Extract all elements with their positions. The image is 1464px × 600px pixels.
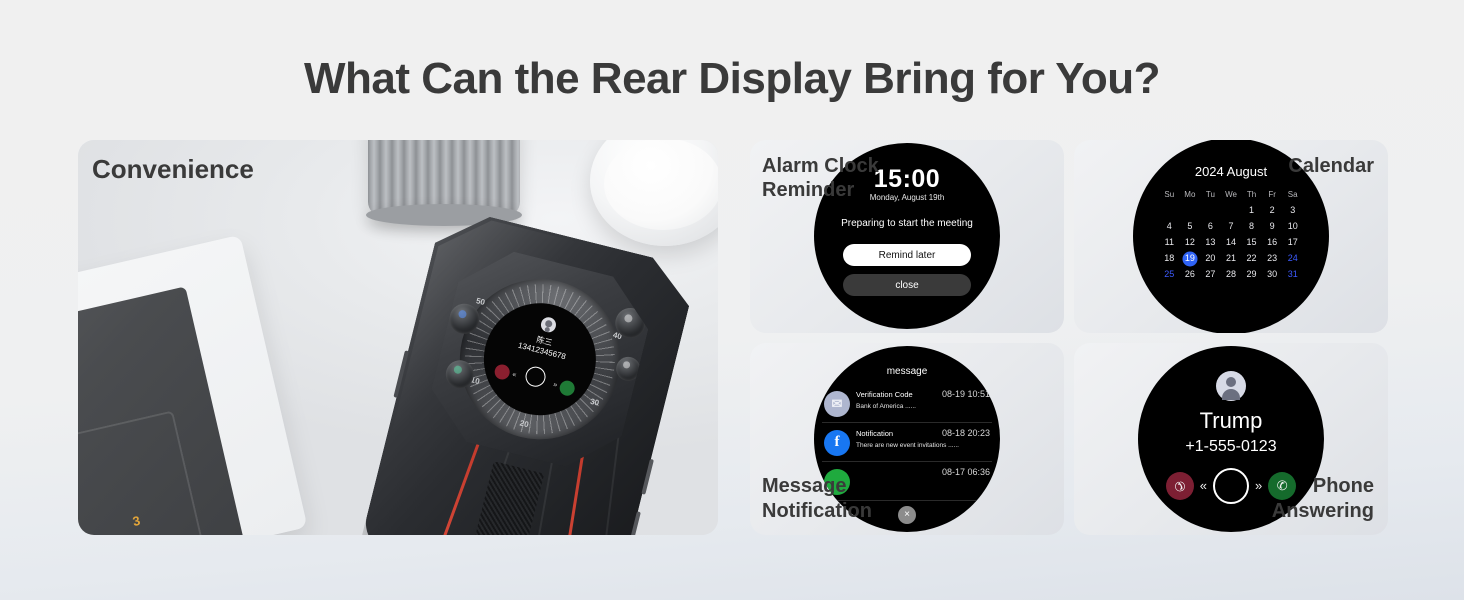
calendar-day-of-week: Su bbox=[1159, 190, 1180, 201]
decline-call-button[interactable]: ✆ bbox=[1166, 472, 1194, 500]
message-row[interactable]: fNotification08-18 20:23There are new ev… bbox=[822, 423, 992, 462]
calendar-day-of-week: Mo bbox=[1180, 190, 1201, 201]
caller-name: Trump bbox=[1138, 408, 1324, 434]
calendar-blank-cell bbox=[1180, 204, 1201, 217]
message-preview: Bank of America ...... bbox=[856, 403, 990, 410]
calendar-day-cell[interactable]: 5 bbox=[1180, 220, 1201, 233]
calendar-day-cell[interactable]: 7 bbox=[1221, 220, 1242, 233]
calendar-day-cell[interactable]: 24 bbox=[1282, 252, 1303, 265]
calendar-day-cell[interactable]: 28 bbox=[1221, 268, 1242, 281]
message-timestamp: 08-17 06:36 bbox=[942, 467, 990, 477]
tile-phone-answering: Phone Answering Trump +1-555-0123 ✆ « » … bbox=[1074, 343, 1388, 536]
message-timestamp: 08-19 10:51 bbox=[942, 389, 990, 399]
calendar-day-cell[interactable]: 16 bbox=[1262, 236, 1283, 249]
convenience-label: Convenience bbox=[92, 154, 254, 186]
calendar-day-cell[interactable]: 18 bbox=[1159, 252, 1180, 265]
calendar-blank-cell bbox=[1159, 204, 1180, 217]
product-box-inner: RUGGED M3 3 bbox=[78, 286, 248, 535]
tile-alarm-clock-reminder: Alarm Clock Reminder 15:00 Monday, Augus… bbox=[750, 140, 1064, 333]
calendar-day-cell[interactable]: 2 bbox=[1262, 204, 1283, 217]
message-header: 08-17 06:36 bbox=[856, 467, 990, 477]
calendar-day-cell[interactable]: 29 bbox=[1241, 268, 1262, 281]
product-mark: 3 bbox=[131, 513, 141, 529]
tile-message-notification: Message Notification message ✉Verificati… bbox=[750, 343, 1064, 536]
rear-display-bezel: 50 10 20 30 40 陈三 13412345678 « » bbox=[443, 262, 637, 456]
content-area: RUGGED M3 3 50 10 20 bbox=[78, 140, 1388, 535]
mail-icon: ✉ bbox=[824, 391, 850, 417]
calendar-day-cell[interactable]: 17 bbox=[1282, 236, 1303, 249]
calendar-day-of-week: We bbox=[1221, 190, 1242, 201]
calendar-day-cell[interactable]: 19 bbox=[1180, 252, 1201, 265]
calendar-blank-cell bbox=[1221, 204, 1242, 217]
calendar-day-cell[interactable]: 14 bbox=[1221, 236, 1242, 249]
tile-label-phone-answering: Phone Answering bbox=[1272, 474, 1374, 523]
rear-display-prev-icon: « bbox=[512, 371, 517, 379]
calendar-day-cell[interactable]: 1 bbox=[1241, 204, 1262, 217]
close-icon[interactable]: × bbox=[898, 506, 916, 524]
calendar-day-cell[interactable]: 13 bbox=[1200, 236, 1221, 249]
message-sender: Verification Code bbox=[856, 390, 913, 399]
rear-display-avatar-icon bbox=[539, 316, 557, 334]
calendar-day-cell[interactable]: 10 bbox=[1282, 220, 1303, 233]
calendar-day-cell[interactable]: 30 bbox=[1262, 268, 1283, 281]
message-sender: Notification bbox=[856, 429, 893, 438]
tile-label-alarm-clock-reminder: Alarm Clock Reminder bbox=[762, 154, 879, 203]
tile-label-calendar: Calendar bbox=[1288, 154, 1374, 178]
close-button[interactable]: close bbox=[843, 274, 971, 296]
prev-icon[interactable]: « bbox=[1200, 478, 1207, 493]
calendar-day-cell[interactable]: 3 bbox=[1282, 204, 1303, 217]
calendar-day-cell[interactable]: 31 bbox=[1282, 268, 1303, 281]
rear-display-decline-icon bbox=[493, 363, 511, 381]
calendar-day-of-week: Th bbox=[1241, 190, 1262, 201]
calendar-day-cell[interactable]: 15 bbox=[1241, 236, 1262, 249]
message-preview: There are new event invitations ...... bbox=[856, 442, 990, 449]
next-icon[interactable]: » bbox=[1255, 478, 1262, 493]
tile-calendar: Calendar 2024 August SuMoTuWeThFrSa12345… bbox=[1074, 140, 1388, 333]
calendar-day-cell[interactable]: 11 bbox=[1159, 236, 1180, 249]
message-header: Notification08-18 20:23 bbox=[856, 428, 990, 438]
rear-display-accept-icon bbox=[558, 379, 576, 397]
calendar-day-cell[interactable]: 25 bbox=[1159, 268, 1180, 281]
calendar-day-cell[interactable]: 20 bbox=[1200, 252, 1221, 265]
call-center-ring-button[interactable] bbox=[1213, 468, 1249, 504]
feature-tiles-grid: Alarm Clock Reminder 15:00 Monday, Augus… bbox=[750, 140, 1388, 535]
bezel-label: 50 bbox=[475, 296, 486, 307]
calendar-day-cell[interactable]: 22 bbox=[1241, 252, 1262, 265]
calendar-day-cell[interactable]: 9 bbox=[1262, 220, 1283, 233]
remind-later-button[interactable]: Remind later bbox=[843, 244, 971, 266]
rear-display-center-ring bbox=[523, 365, 547, 389]
message-row[interactable]: ✉Verification Code08-19 10:51Bank of Ame… bbox=[822, 384, 992, 423]
message-header: Verification Code08-19 10:51 bbox=[856, 389, 990, 399]
convenience-photo-card: RUGGED M3 3 50 10 20 bbox=[78, 140, 718, 535]
message-body: Notification08-18 20:23There are new eve… bbox=[856, 428, 990, 449]
calendar-day-cell[interactable]: 12 bbox=[1180, 236, 1201, 249]
message-body: Verification Code08-19 10:51Bank of Amer… bbox=[856, 389, 990, 410]
alarm-message: Preparing to start the meeting bbox=[814, 218, 1000, 229]
messages-title: message bbox=[814, 366, 1000, 377]
calendar-day-cell[interactable]: 4 bbox=[1159, 220, 1180, 233]
caller-number: +1-555-0123 bbox=[1138, 438, 1324, 456]
calendar-blank-cell bbox=[1200, 204, 1221, 217]
contact-avatar-icon bbox=[1216, 371, 1246, 401]
calendar-day-cell[interactable]: 8 bbox=[1241, 220, 1262, 233]
calendar-day-cell[interactable]: 21 bbox=[1221, 252, 1242, 265]
calendar-day-cell[interactable]: 27 bbox=[1200, 268, 1221, 281]
calendar-day-cell[interactable]: 26 bbox=[1180, 268, 1201, 281]
calendar-day-cell[interactable]: 6 bbox=[1200, 220, 1221, 233]
page-title: What Can the Rear Display Bring for You? bbox=[0, 0, 1464, 103]
calendar-day-of-week: Sa bbox=[1282, 190, 1303, 201]
facebook-icon: f bbox=[824, 430, 850, 456]
calendar-day-of-week: Tu bbox=[1200, 190, 1221, 201]
calendar-grid[interactable]: SuMoTuWeThFrSa12345678910111213141516171… bbox=[1159, 190, 1303, 281]
calendar-day-cell[interactable]: 23 bbox=[1262, 252, 1283, 265]
message-timestamp: 08-18 20:23 bbox=[942, 428, 990, 438]
message-body: 08-17 06:36 bbox=[856, 467, 990, 481]
tile-label-message-notification: Message Notification bbox=[762, 474, 872, 523]
calendar-day-of-week: Fr bbox=[1262, 190, 1283, 201]
rear-display-next-icon: » bbox=[552, 381, 557, 389]
